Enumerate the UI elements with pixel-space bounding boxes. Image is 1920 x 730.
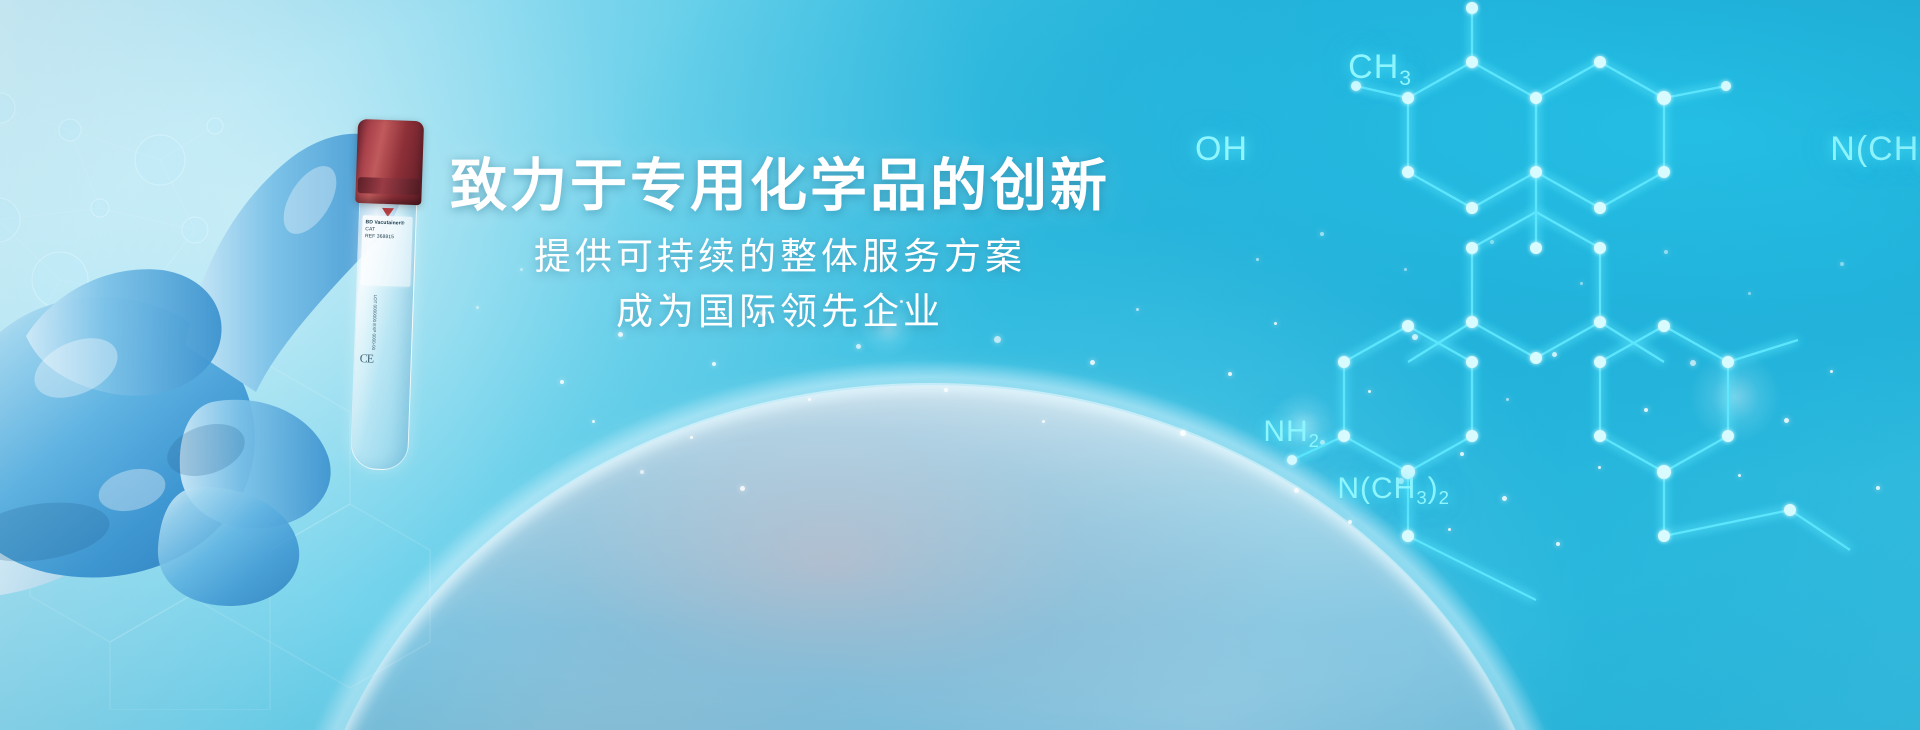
hero-banner: BD Vacutainer® CAT REF 368815 LOT 000000… xyxy=(0,0,1920,730)
tube-cap xyxy=(355,119,424,205)
amino-label: NH2 xyxy=(1263,415,1320,449)
banner-subline-2: 成为国际领先企业 xyxy=(0,283,1560,340)
methyl-label: CH3 xyxy=(1348,48,1412,87)
light-flare-right xyxy=(1690,352,1780,442)
light-flare-center xyxy=(860,300,916,356)
tube-label: BD Vacutainer® CAT REF 368815 xyxy=(360,215,412,287)
banner-subline-1: 提供可持续的整体服务方案 xyxy=(0,228,1560,285)
banner-headline: 致力于专用化学品的创新 xyxy=(0,155,1560,218)
ce-mark-icon: CE xyxy=(360,351,374,366)
tube-label-cat: CAT xyxy=(365,226,375,232)
molecule-wireframe-left xyxy=(0,30,380,450)
dimethylamino-label-top: N(CH3 xyxy=(1830,130,1920,169)
earth-globe-rim xyxy=(300,383,1560,730)
tube-label-ref: REF 368815 xyxy=(365,233,394,240)
hydroxyl-label: OH xyxy=(1195,130,1248,169)
blood-collection-tube: BD Vacutainer® CAT REF 368815 LOT 000000… xyxy=(346,119,424,471)
dimethylamino-label-bottom: N(CH3)2 xyxy=(1337,472,1450,506)
